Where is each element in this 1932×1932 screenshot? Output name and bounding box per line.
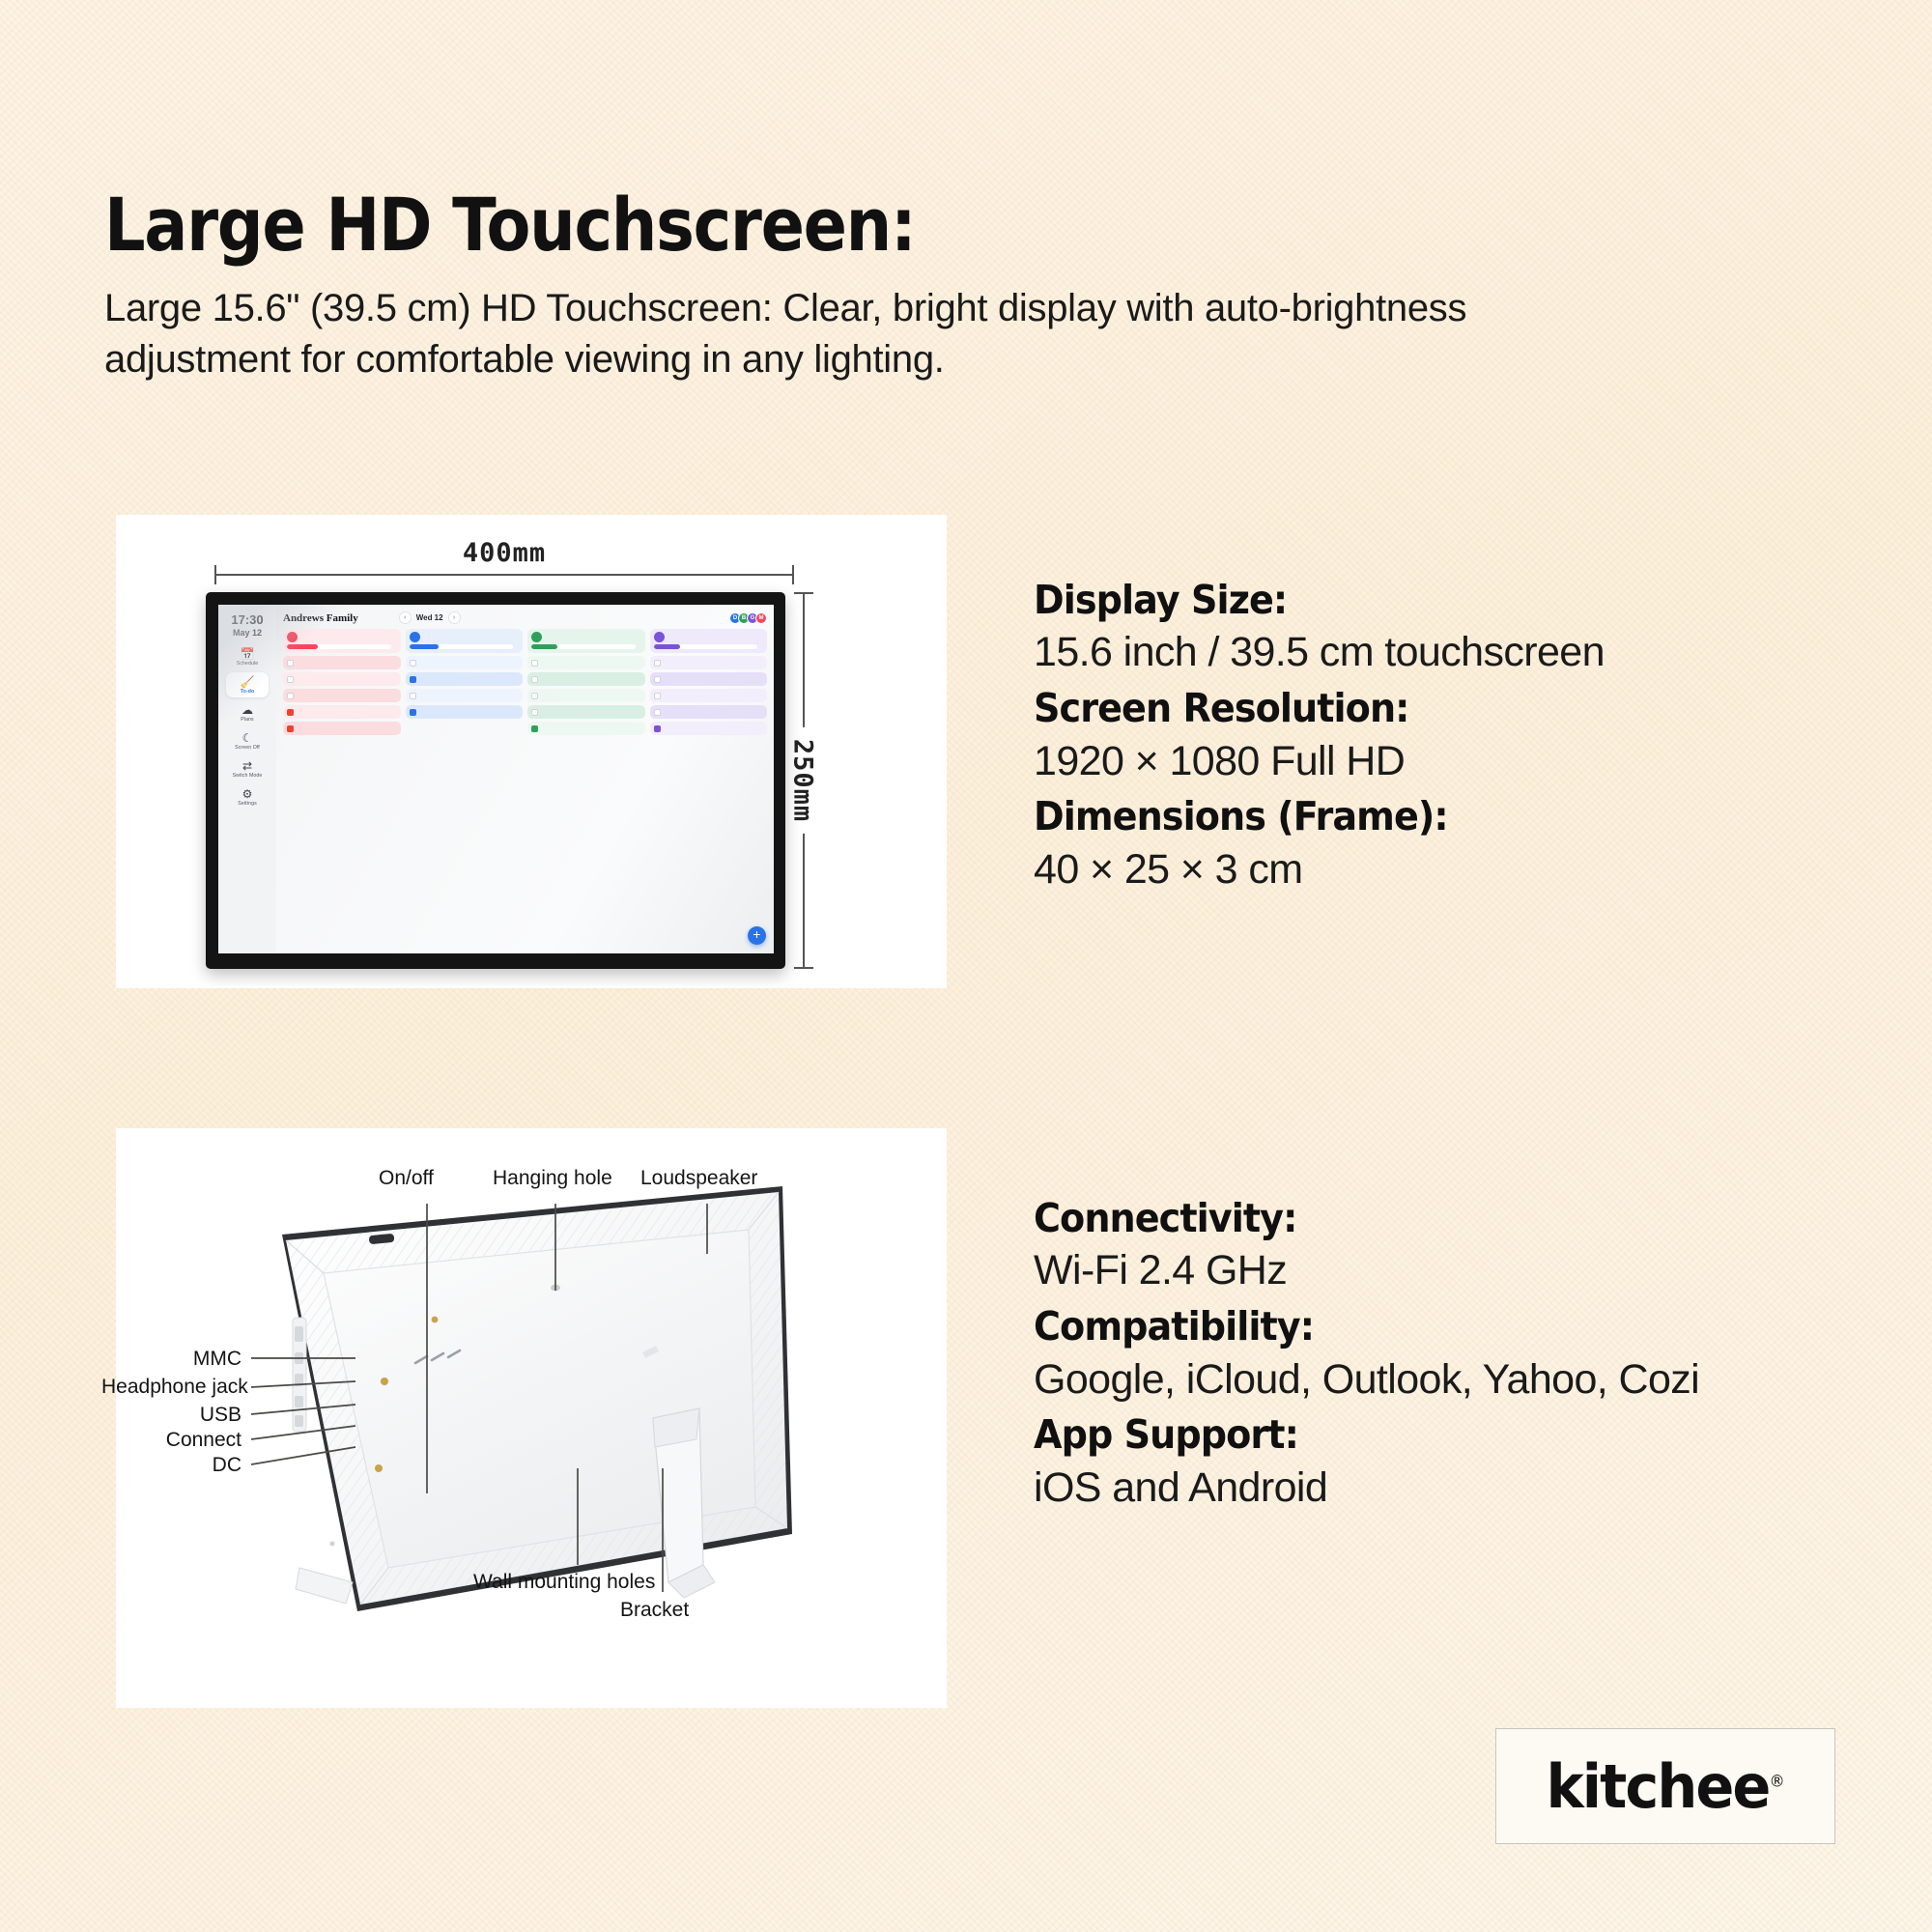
progress-bar <box>654 644 758 649</box>
task-card[interactable] <box>650 689 768 702</box>
task-checkbox[interactable] <box>287 725 294 732</box>
task-body <box>664 692 764 693</box>
task-checkbox[interactable] <box>410 709 416 716</box>
spec-value: Wi-Fi 2.4 GHz <box>1034 1243 1903 1298</box>
task-body <box>541 692 641 693</box>
callout-connect: Connect <box>135 1429 241 1452</box>
task-checkbox[interactable] <box>531 660 538 667</box>
callout-hanging-hole: Hanging hole <box>493 1167 612 1190</box>
spec-key: Display Size: <box>1034 575 1824 625</box>
sidebar-item-schedule[interactable]: 📅Schedule <box>226 644 269 669</box>
task-checkbox[interactable] <box>531 709 538 716</box>
sidebar-nav: 📅Schedule🧹To-do☁Plans☾Screen Off⇄Switch … <box>226 644 269 812</box>
gear-icon: ⚙ <box>242 788 253 800</box>
add-task-button[interactable]: + <box>748 926 766 945</box>
callout-on-off: On/off <box>379 1167 434 1190</box>
task-card[interactable] <box>527 672 645 686</box>
member-avatars: DBGM <box>732 612 767 624</box>
clock-date: May 12 <box>233 628 262 638</box>
dimension-rule <box>214 574 794 576</box>
spec-value: 40 × 25 × 3 cm <box>1034 842 1884 897</box>
tablet-screen: 17:30 May 12 📅Schedule🧹To-do☁Plans☾Scree… <box>218 605 774 953</box>
member-progress-row <box>287 644 397 649</box>
task-card[interactable] <box>650 722 768 735</box>
app-header: Andrews Family ‹ Wed 12 › DBGM <box>283 611 767 624</box>
dimension-cap-left <box>214 565 216 584</box>
member-avatar <box>287 632 298 642</box>
spec-value: Google, iCloud, Outlook, Yahoo, Cozi <box>1034 1352 1903 1407</box>
task-checkbox[interactable] <box>287 660 294 667</box>
member-column <box>283 629 401 953</box>
task-card[interactable] <box>650 656 768 669</box>
callout-wall-mounting-holes: Wall mounting holes <box>473 1571 655 1594</box>
calendar-icon: 📅 <box>241 648 255 660</box>
family-name: Andrews Family <box>283 612 358 624</box>
member-progress-row <box>410 644 520 649</box>
task-card[interactable] <box>406 689 524 702</box>
specs-bottom-block: Connectivity:Wi-Fi 2.4 GHzCompatibility:… <box>1034 1193 1903 1519</box>
height-dimension-line: 250mm <box>792 592 813 969</box>
task-checkbox[interactable] <box>654 725 661 732</box>
sidebar-item-to-do[interactable]: 🧹To-do <box>226 672 269 697</box>
task-checkbox[interactable] <box>654 660 661 667</box>
task-card[interactable] <box>406 672 524 686</box>
task-body <box>297 708 397 709</box>
dimension-cap-right <box>792 565 794 584</box>
task-body <box>297 724 397 725</box>
app-sidebar: 17:30 May 12 📅Schedule🧹To-do☁Plans☾Scree… <box>218 605 276 953</box>
task-body <box>297 675 397 676</box>
member-header <box>531 632 641 642</box>
task-card[interactable] <box>283 656 401 669</box>
task-checkbox[interactable] <box>531 693 538 699</box>
spec-value: 15.6 inch / 39.5 cm touchscreen <box>1034 625 1884 680</box>
avatar[interactable]: M <box>755 612 767 624</box>
task-card[interactable] <box>527 722 645 735</box>
brand-logo-text: kitchee® <box>1546 1751 1784 1822</box>
callout-bracket: Bracket <box>620 1599 689 1622</box>
width-dimension-label: 400mm <box>449 538 559 568</box>
task-card[interactable] <box>406 656 524 669</box>
task-body <box>664 708 764 709</box>
clock-time: 17:30 <box>231 613 263 627</box>
member-header <box>287 632 397 642</box>
task-body <box>541 708 641 709</box>
current-day-label: Wed 12 <box>416 613 443 622</box>
callout-usb: USB <box>176 1404 241 1427</box>
brand-name: kitchee <box>1546 1751 1769 1822</box>
task-body <box>541 659 641 660</box>
member-progress-row <box>531 644 641 649</box>
member-column <box>527 629 645 953</box>
spec-key: Dimensions (Frame): <box>1034 791 1824 841</box>
task-checkbox[interactable] <box>654 693 661 699</box>
task-card[interactable] <box>283 722 401 735</box>
task-card[interactable] <box>650 705 768 719</box>
task-body <box>541 675 641 676</box>
sidebar-item-label: Screen Off <box>235 745 260 751</box>
header-block: Large HD Touchscreen: Large 15.6" (39.5 … <box>104 188 1476 385</box>
member-column <box>650 629 768 953</box>
task-body <box>419 708 520 709</box>
task-card[interactable] <box>283 689 401 702</box>
moon-icon: ☾ <box>242 732 253 744</box>
member-card[interactable] <box>283 629 401 653</box>
task-card[interactable] <box>283 705 401 719</box>
task-checkbox[interactable] <box>287 709 294 716</box>
member-avatar <box>410 632 420 642</box>
broom-icon: 🧹 <box>241 676 255 688</box>
sidebar-item-label: Schedule <box>237 661 258 667</box>
member-avatar <box>654 632 665 642</box>
member-columns <box>283 629 767 953</box>
spec-key: App Support: <box>1034 1409 1842 1460</box>
task-body <box>419 692 520 693</box>
progress-bar <box>410 644 514 649</box>
page-title: Large HD Touchscreen: <box>104 188 1312 262</box>
task-body <box>664 659 764 660</box>
member-card[interactable] <box>406 629 524 653</box>
task-body <box>419 675 520 676</box>
task-checkbox[interactable] <box>410 693 416 699</box>
sidebar-item-label: To-do <box>241 689 255 695</box>
task-body <box>664 724 764 725</box>
task-card[interactable] <box>527 656 645 669</box>
brand-logo: kitchee® <box>1495 1728 1835 1844</box>
task-body <box>419 659 520 660</box>
callout-loudspeaker: Loudspeaker <box>640 1167 757 1190</box>
task-body <box>541 724 641 725</box>
sidebar-item-plans[interactable]: ☁Plans <box>226 700 269 725</box>
prev-day-button[interactable]: ‹ <box>399 611 412 624</box>
spec-key: Compatibility: <box>1034 1301 1842 1351</box>
task-card[interactable] <box>406 705 524 719</box>
dimension-cap-top <box>794 592 813 594</box>
switch-icon: ⇄ <box>242 760 252 772</box>
member-avatar <box>531 632 542 642</box>
member-header <box>654 632 764 642</box>
callout-dc: DC <box>176 1454 241 1477</box>
width-dimension-line: 400mm <box>214 563 794 584</box>
dimension-cap-bottom <box>794 967 813 969</box>
task-body <box>297 659 397 660</box>
member-card[interactable] <box>650 629 768 653</box>
task-card[interactable] <box>650 672 768 686</box>
task-checkbox[interactable] <box>654 676 661 683</box>
task-body <box>297 692 397 693</box>
member-column <box>406 629 524 953</box>
sidebar-item-switch-mode[interactable]: ⇄Switch Mode <box>226 756 269 781</box>
spec-key: Connectivity: <box>1034 1193 1842 1243</box>
tablet-front-device: 17:30 May 12 📅Schedule🧹To-do☁Plans☾Scree… <box>206 592 785 969</box>
spec-value: 1920 × 1080 Full HD <box>1034 734 1884 789</box>
sidebar-item-label: Switch Mode <box>233 773 263 779</box>
height-dimension-label: 250mm <box>788 727 818 834</box>
callout-mmc: MMC <box>176 1348 241 1371</box>
task-card[interactable] <box>527 705 645 719</box>
task-checkbox[interactable] <box>654 709 661 716</box>
member-header <box>410 632 520 642</box>
task-checkbox[interactable] <box>410 660 416 667</box>
callout-headphone-jack: Headphone jack <box>101 1376 241 1399</box>
date-navigator: ‹ Wed 12 › <box>399 611 461 624</box>
page-subtitle: Large 15.6" (39.5 cm) HD Touchscreen: Cl… <box>104 283 1476 385</box>
task-checkbox[interactable] <box>410 676 416 683</box>
task-checkbox[interactable] <box>287 693 294 699</box>
sidebar-item-settings[interactable]: ⚙Settings <box>226 784 269 810</box>
task-checkbox[interactable] <box>531 676 538 683</box>
next-day-button[interactable]: › <box>448 611 461 624</box>
registered-trademark-icon: ® <box>1769 1772 1784 1791</box>
member-card[interactable] <box>527 629 645 653</box>
task-body <box>664 675 764 676</box>
task-checkbox[interactable] <box>287 676 294 683</box>
spec-key: Screen Resolution: <box>1034 683 1824 733</box>
task-card[interactable] <box>283 672 401 686</box>
member-progress-row <box>654 644 764 649</box>
sidebar-item-label: Plans <box>241 717 253 723</box>
sidebar-item-label: Settings <box>238 801 257 807</box>
task-card[interactable] <box>527 689 645 702</box>
task-checkbox[interactable] <box>531 725 538 732</box>
progress-bar <box>287 644 391 649</box>
sidebar-item-screen-off[interactable]: ☾Screen Off <box>226 728 269 753</box>
spec-value: iOS and Android <box>1034 1461 1903 1516</box>
app-main: Andrews Family ‹ Wed 12 › DBGM <box>276 605 774 953</box>
specs-top-block: Display Size:15.6 inch / 39.5 cm touchsc… <box>1034 575 1884 900</box>
cloud-icon: ☁ <box>241 704 253 716</box>
progress-bar <box>531 644 636 649</box>
back-view-stage: On/off Hanging hole Loudspeaker MMC Head… <box>116 1128 947 1708</box>
